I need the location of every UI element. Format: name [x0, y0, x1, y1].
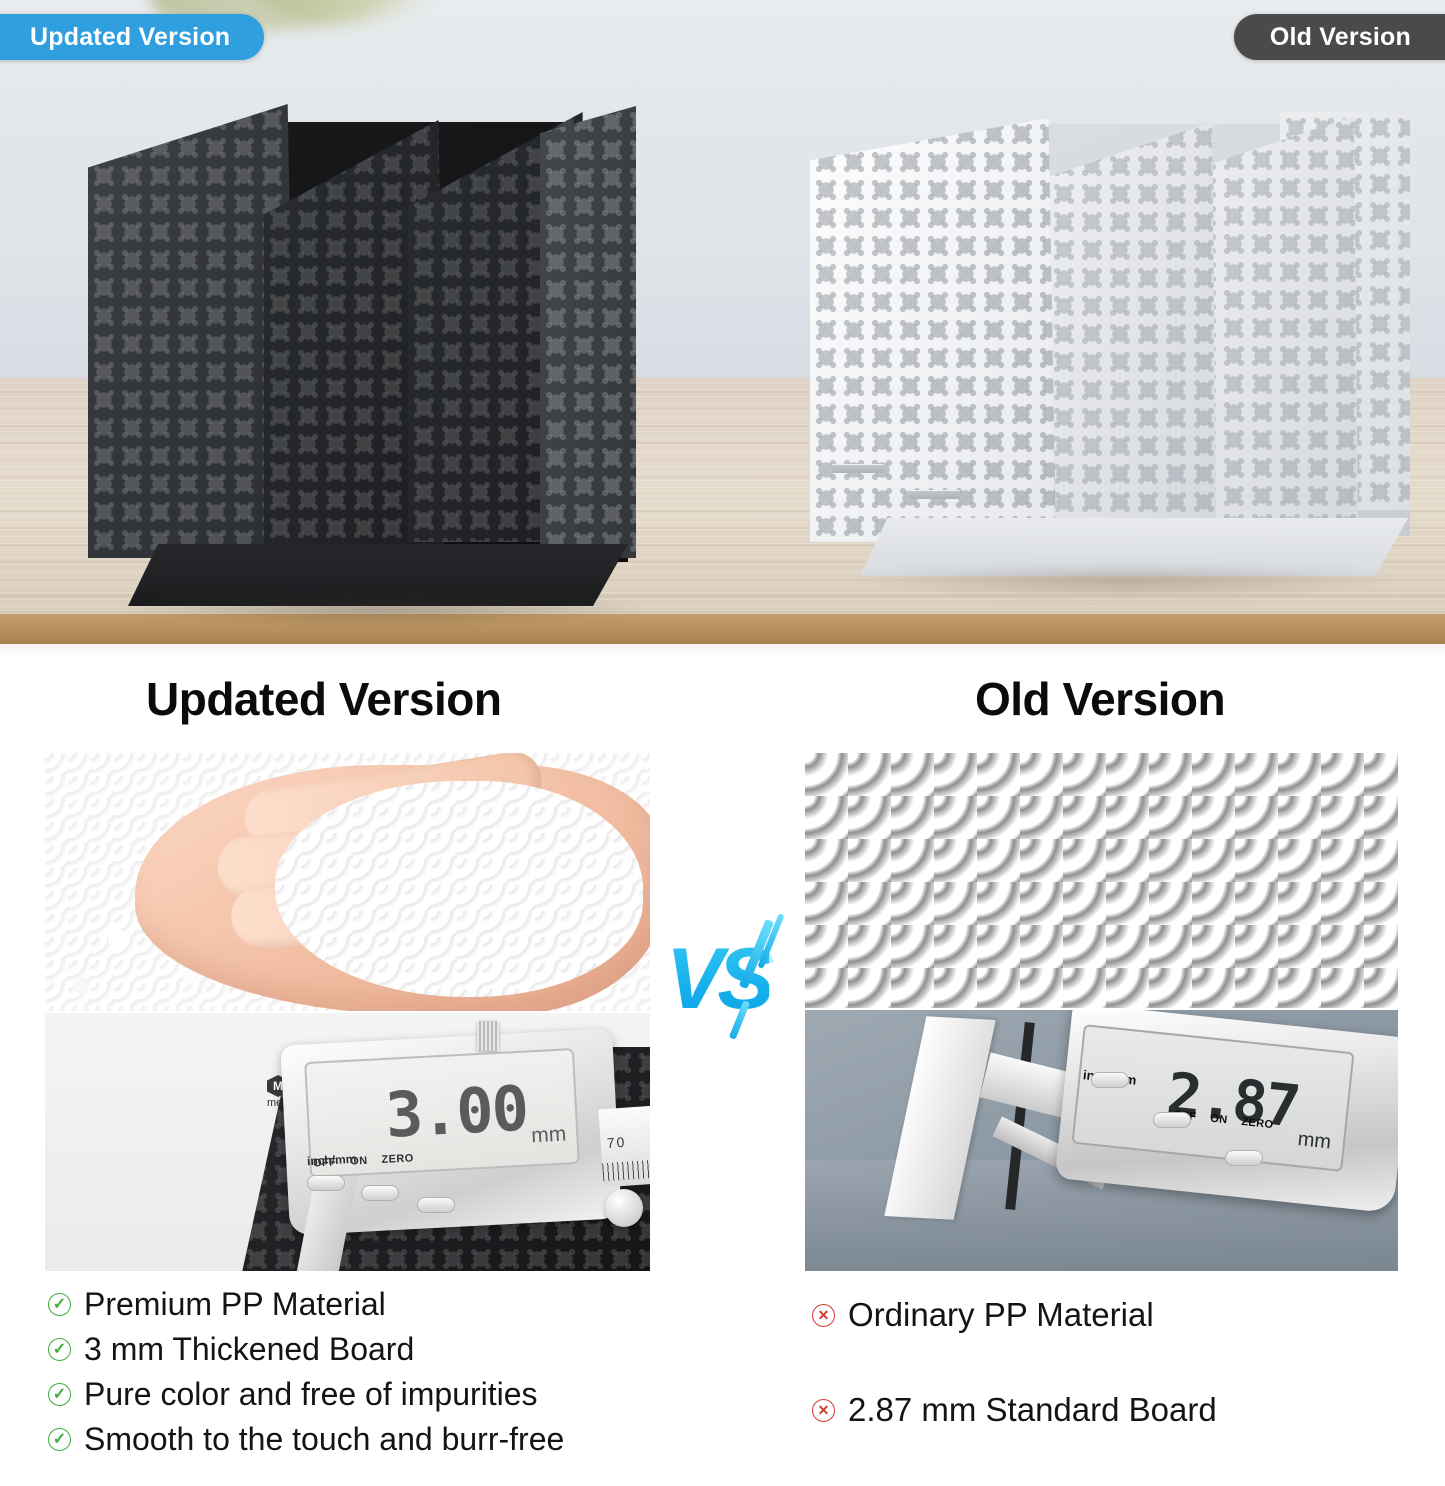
caliper-ruler-number: 70 [606, 1134, 627, 1151]
caliper-button-off [307, 1175, 345, 1191]
caliper-reading-unit: mm [1297, 1128, 1333, 1154]
check-icon: ✓ [48, 1383, 71, 1406]
list-item: ✕ Ordinary PP Material [812, 1296, 1217, 1334]
versus-label: VS [666, 930, 769, 1029]
list-item-label: Pure color and free of impurities [84, 1376, 538, 1413]
white-file-organizer-photo [810, 112, 1410, 592]
feature-list-updated: ✓ Premium PP Material ✓ 3 mm Thickened B… [48, 1286, 564, 1466]
list-item: ✓ 3 mm Thickened Board [48, 1331, 564, 1368]
caliper-button-on [361, 1185, 399, 1201]
desk-drop-shadow [0, 644, 1445, 657]
organizer-shadow [846, 564, 1406, 598]
caliper-button-off [1091, 1072, 1129, 1088]
check-icon: ✓ [48, 1338, 71, 1361]
caliper-lock-screw [477, 1021, 499, 1051]
clear-pellets-texture [805, 753, 1398, 1008]
organizer-shadow [118, 590, 648, 626]
badge-updated-label: Updated Version [30, 23, 230, 52]
badge-updated-version: Updated Version [0, 14, 264, 60]
list-item-label: Ordinary PP Material [848, 1296, 1154, 1334]
caliper-reading-unit: mm [531, 1123, 567, 1149]
caliper-button-zero [1225, 1150, 1263, 1166]
photo-updated-material-pellets [45, 753, 650, 1011]
caliper-ruler-scale: 70 [598, 1105, 650, 1188]
caliper-button-zero [417, 1197, 455, 1213]
badge-old-version: Old Version [1234, 14, 1445, 60]
list-item-label: 2.87 mm Standard Board [848, 1391, 1217, 1429]
caliper-on-label: ON [350, 1155, 368, 1168]
perforation-dots [540, 106, 636, 558]
photo-old-caliper-measurement: 2.87 mm inch/mm OFF ON ZERO [805, 1010, 1398, 1271]
hero-product-panel: Updated Version Old Version [0, 0, 1445, 657]
caliper-reading-value: 3.00 [384, 1078, 528, 1147]
cross-icon: ✕ [812, 1399, 835, 1422]
list-item: ✕ 2.87 mm Standard Board [812, 1391, 1217, 1429]
list-item: ✓ Pure color and free of impurities [48, 1376, 564, 1413]
cross-icon: ✕ [812, 1304, 835, 1327]
badge-old-label: Old Version [1270, 23, 1411, 52]
caliper-button-on [1153, 1112, 1191, 1128]
black-file-organizer-photo [88, 104, 636, 604]
caliper-off-label: OFF [313, 1156, 337, 1169]
photo-old-material-pellets [805, 753, 1398, 1008]
caliper-zero-label: ZERO [381, 1152, 414, 1166]
organizer-left-side-panel [810, 118, 1056, 542]
list-item-label: Premium PP Material [84, 1286, 386, 1323]
caliper-thumb-wheel [605, 1189, 643, 1227]
list-item-label: 3 mm Thickened Board [84, 1331, 414, 1368]
caliper-ruler-ticks [602, 1159, 650, 1182]
check-icon: ✓ [48, 1293, 71, 1316]
list-item: ✓ Premium PP Material [48, 1286, 564, 1323]
caliper-on-label: ON [1210, 1113, 1228, 1127]
photo-updated-caliper-measurement: M meinaite 3.00 mm inch/mm OFF ON ZERO 7… [45, 1013, 650, 1271]
section-title-updated: Updated Version [146, 672, 501, 726]
perforation-dots [810, 118, 1056, 542]
check-icon: ✓ [48, 1428, 71, 1451]
list-item-label: Smooth to the touch and burr-free [84, 1421, 564, 1458]
feature-list-old: ✕ Ordinary PP Material ✕ 2.87 mm Standar… [812, 1296, 1217, 1486]
organizer-vent-slot-1 [832, 464, 884, 473]
organizer-vent-slot-2 [908, 490, 960, 499]
section-title-old: Old Version [975, 672, 1225, 726]
list-item: ✓ Smooth to the touch and burr-free [48, 1421, 564, 1458]
organizer-right-side-panel [540, 106, 636, 558]
white-pellet-pile [275, 781, 643, 997]
